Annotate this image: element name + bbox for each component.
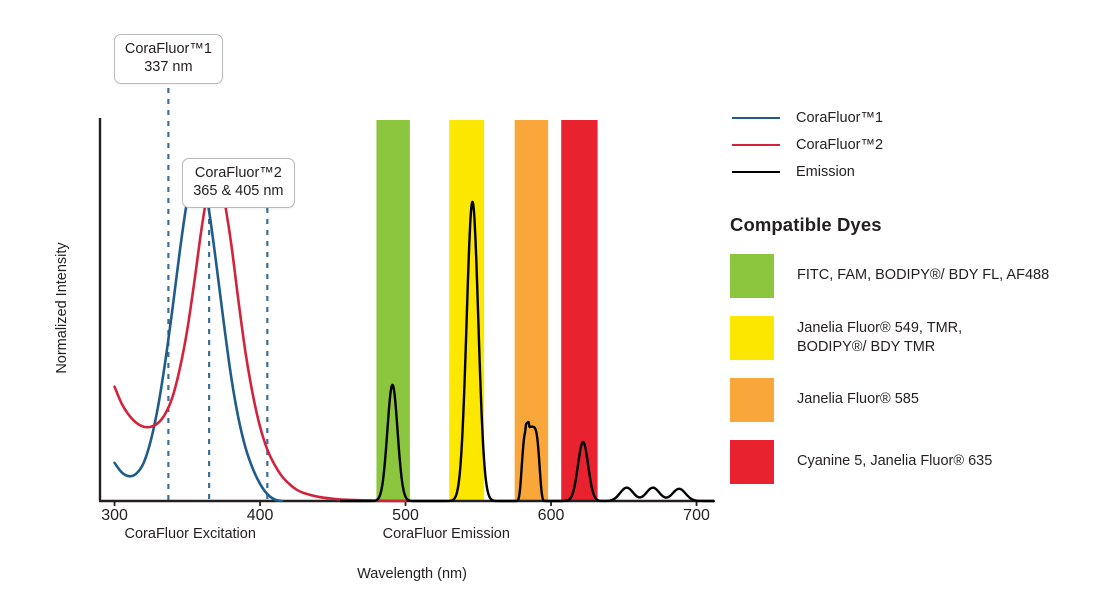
compatible-dyes-list: FITC, FAM, BODIPY®/ BDY FL, AF488Janelia… bbox=[730, 254, 1110, 484]
dye-label-line2: BODIPY®/ BDY TMR bbox=[797, 338, 962, 357]
dye-color-swatch bbox=[730, 254, 774, 298]
dye-label: Cyanine 5, Janelia Fluor® 635 bbox=[797, 452, 992, 471]
legend-line-swatch bbox=[732, 117, 780, 119]
curve-excitation-CoraFluor1 bbox=[115, 164, 282, 501]
legend-item-Emission[interactable]: Emission bbox=[730, 158, 1110, 185]
dye-row[interactable]: Janelia Fluor® 549, TMR,BODIPY®/ BDY TMR bbox=[730, 316, 1110, 360]
curve-excitation-CoraFluor2 bbox=[115, 171, 406, 501]
callout-corafluor2-title: CoraFluor™2 bbox=[193, 165, 283, 183]
region-label-excitation: CoraFluor Excitation bbox=[125, 526, 256, 542]
dye-label: FITC, FAM, BODIPY®/ BDY FL, AF488 bbox=[797, 266, 1049, 285]
legend-line-label: Emission bbox=[796, 164, 855, 180]
legend-item-CoraFluor1[interactable]: CoraFluor™1 bbox=[730, 104, 1110, 131]
callout-corafluor2-value: 365 & 405 nm bbox=[193, 183, 283, 201]
dye-color-swatch bbox=[730, 378, 774, 422]
x-tick-label-600: 600 bbox=[538, 507, 565, 525]
legend-panel: CoraFluor™1CoraFluor™2Emission Compatibl… bbox=[730, 104, 1110, 484]
dye-label: Janelia Fluor® 549, TMR,BODIPY®/ BDY TMR bbox=[797, 319, 962, 357]
x-tick-label-500: 500 bbox=[392, 507, 419, 525]
red-band bbox=[561, 120, 597, 501]
dye-color-swatch bbox=[730, 316, 774, 360]
legend-line-swatch bbox=[732, 171, 780, 173]
dye-row[interactable]: Janelia Fluor® 585 bbox=[730, 378, 1110, 422]
x-tick-label-400: 400 bbox=[247, 507, 274, 525]
y-axis-title: Normalized Intensity bbox=[54, 242, 70, 373]
dye-color-swatch bbox=[730, 440, 774, 484]
dye-row[interactable]: Cyanine 5, Janelia Fluor® 635 bbox=[730, 440, 1110, 484]
dye-label-line1: Cyanine 5, Janelia Fluor® 635 bbox=[797, 452, 992, 471]
dye-row[interactable]: FITC, FAM, BODIPY®/ BDY FL, AF488 bbox=[730, 254, 1110, 298]
dye-label-line1: FITC, FAM, BODIPY®/ BDY FL, AF488 bbox=[797, 266, 1049, 285]
dye-label-line1: Janelia Fluor® 549, TMR, bbox=[797, 319, 962, 338]
legend-line-label: CoraFluor™2 bbox=[796, 137, 883, 153]
callout-corafluor1: CoraFluor™1 337 nm bbox=[114, 34, 223, 84]
region-label-emission: CoraFluor Emission bbox=[383, 526, 510, 542]
spectra-figure: CoraFluor™1 337 nm CoraFluor™2 365 & 405… bbox=[0, 0, 1110, 612]
legend-line-swatch bbox=[732, 144, 780, 146]
callout-corafluor1-value: 337 nm bbox=[125, 59, 212, 77]
x-tick-label-300: 300 bbox=[101, 507, 128, 525]
legend-heading: Compatible Dyes bbox=[730, 214, 1110, 236]
dye-label-line1: Janelia Fluor® 585 bbox=[797, 390, 919, 409]
legend-series-list: CoraFluor™1CoraFluor™2Emission bbox=[730, 104, 1110, 185]
x-axis-title: Wavelength (nm) bbox=[357, 566, 467, 582]
legend-line-label: CoraFluor™1 bbox=[796, 110, 883, 126]
dye-label: Janelia Fluor® 585 bbox=[797, 390, 919, 409]
green-band bbox=[376, 120, 409, 501]
plot-area: CoraFluor™1 337 nm CoraFluor™2 365 & 405… bbox=[0, 0, 730, 612]
orange-band bbox=[515, 120, 548, 501]
callout-corafluor1-title: CoraFluor™1 bbox=[125, 41, 212, 59]
x-tick-label-700: 700 bbox=[683, 507, 710, 525]
callout-corafluor2: CoraFluor™2 365 & 405 nm bbox=[182, 158, 294, 208]
legend-item-CoraFluor2[interactable]: CoraFluor™2 bbox=[730, 131, 1110, 158]
